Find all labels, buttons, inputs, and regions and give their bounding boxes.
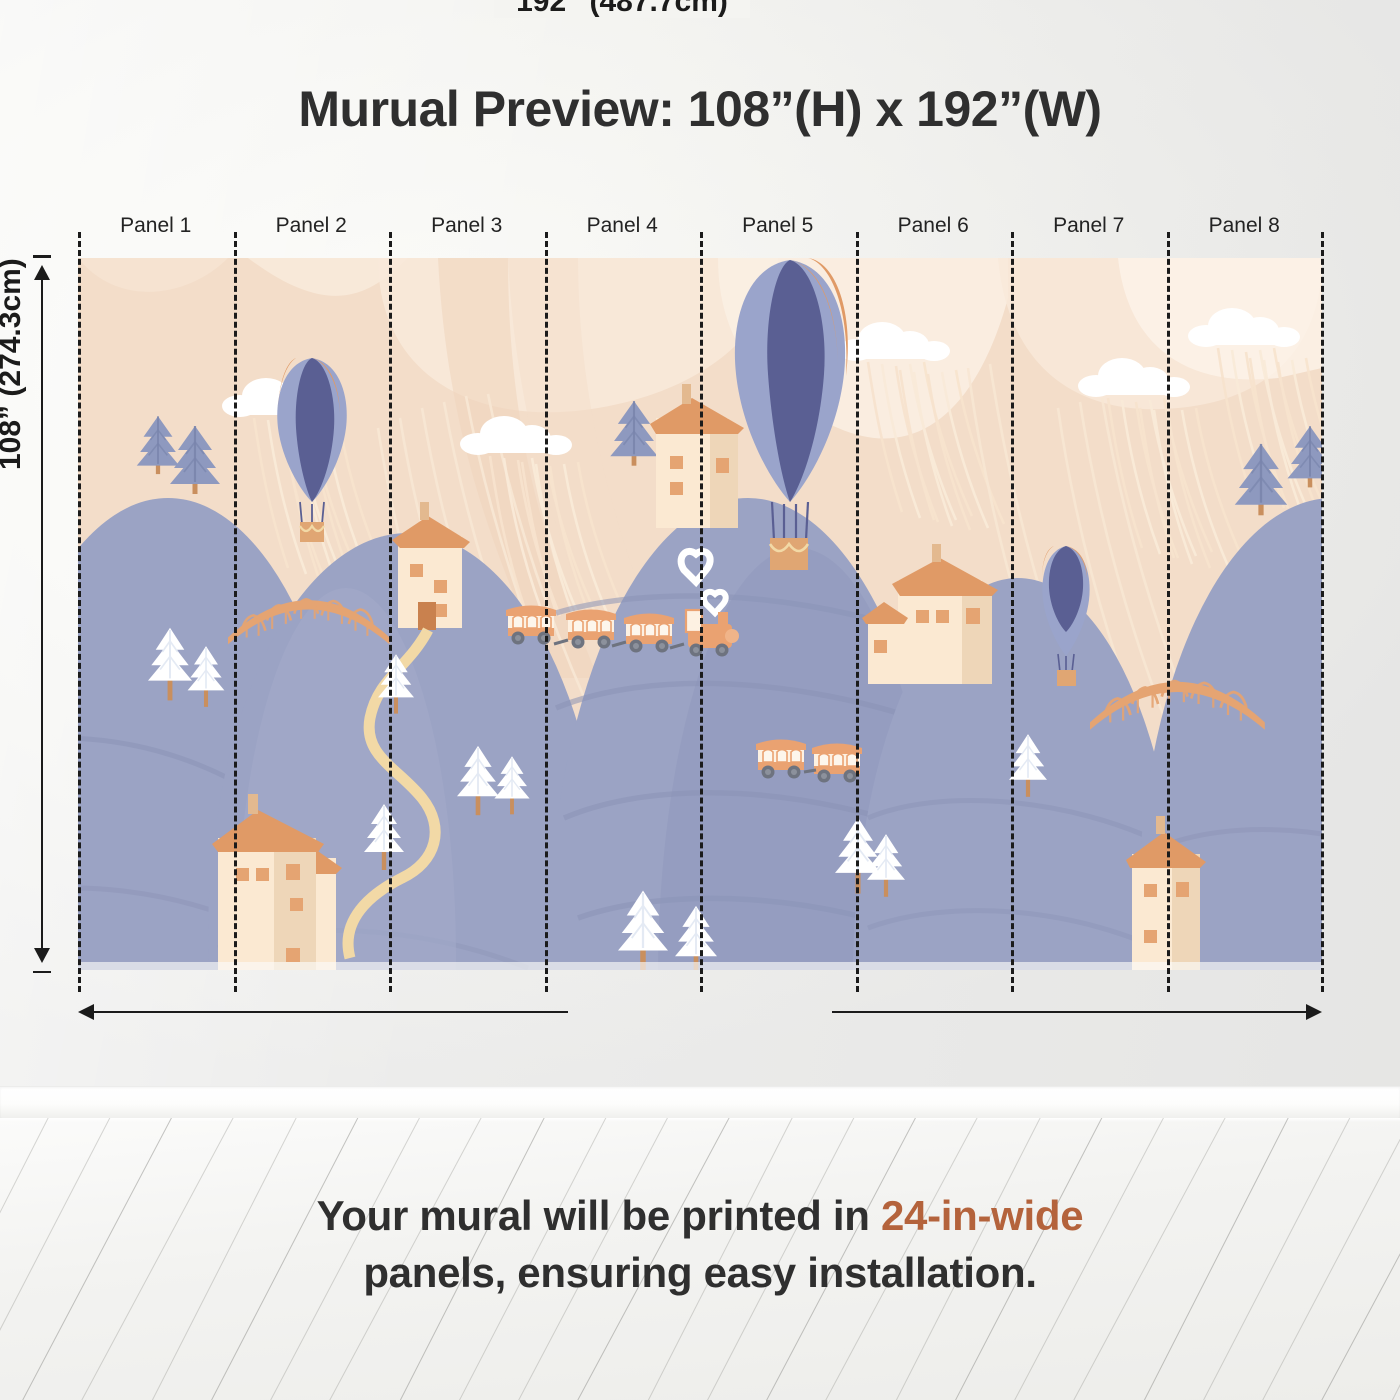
height-line (41, 267, 43, 961)
panel-label-1: Panel 1 (78, 214, 234, 238)
arrow-down-icon (34, 948, 50, 963)
height-tick-bottom (33, 971, 51, 974)
panel-label-8: Panel 8 (1167, 214, 1323, 238)
panel-label-7: Panel 7 (1011, 214, 1167, 238)
panel-label-3: Panel 3 (389, 214, 545, 238)
caption-accent: 24-in-wide (881, 1192, 1083, 1239)
mural-preview (78, 258, 1322, 970)
width-line-right (832, 1011, 1312, 1013)
panel-label-row: Panel 1 Panel 2 Panel 3 Panel 4 Panel 5 … (78, 214, 1322, 246)
panel-label-6: Panel 6 (856, 214, 1012, 238)
caption-line-2: panels, ensuring easy installation. (0, 1245, 1400, 1302)
mural-scene (78, 258, 1322, 970)
height-label: 108” (274.3cm) (0, 258, 28, 470)
height-dimension (30, 255, 54, 973)
mural-svg (78, 258, 1322, 970)
width-line-left (88, 1011, 568, 1013)
panel-label-2: Panel 2 (234, 214, 390, 238)
width-label: 192” (487.7cm) (494, 0, 750, 18)
width-label-wrap: 192” (487.7cm) (0, 0, 1244, 19)
mural-artwork (78, 258, 1322, 970)
caption-text-before: Your mural will be printed in (317, 1192, 881, 1239)
baseboard (0, 1086, 1400, 1118)
height-tick-top (33, 255, 51, 258)
panel-label-5: Panel 5 (700, 214, 856, 238)
arrow-right-icon (1306, 1004, 1322, 1020)
width-dimension (78, 1002, 1322, 1024)
caption-line-1: Your mural will be printed in 24-in-wide (0, 1188, 1400, 1245)
footer-caption: Your mural will be printed in 24-in-wide… (0, 1188, 1400, 1301)
page-title: Murual Preview: 108”(H) x 192”(W) (0, 80, 1400, 138)
panel-label-4: Panel 4 (545, 214, 701, 238)
